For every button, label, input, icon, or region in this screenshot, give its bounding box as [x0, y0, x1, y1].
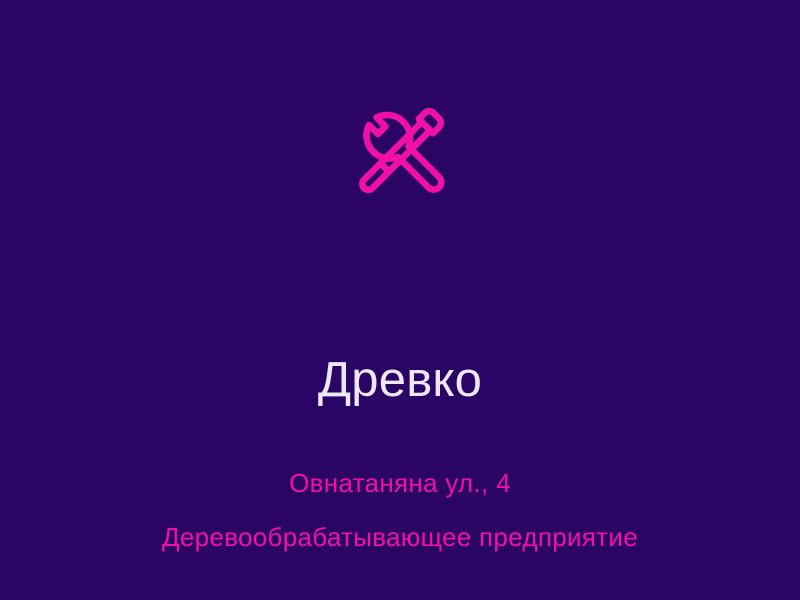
title-block: Древко — [0, 352, 800, 409]
wrench-and-screwdriver-icon — [350, 102, 450, 202]
description-line: Деревообрабатывающее предприятие — [0, 524, 800, 550]
address-line: Овнатаняна ул., 4 — [0, 470, 800, 496]
subtitle-block: Овнатаняна ул., 4 Деревообрабатывающее п… — [0, 470, 800, 550]
organization-card-screen: Древко Овнатаняна ул., 4 Деревообрабатыв… — [0, 0, 800, 600]
icon-block — [0, 100, 800, 204]
page-title: Древко — [0, 352, 800, 409]
